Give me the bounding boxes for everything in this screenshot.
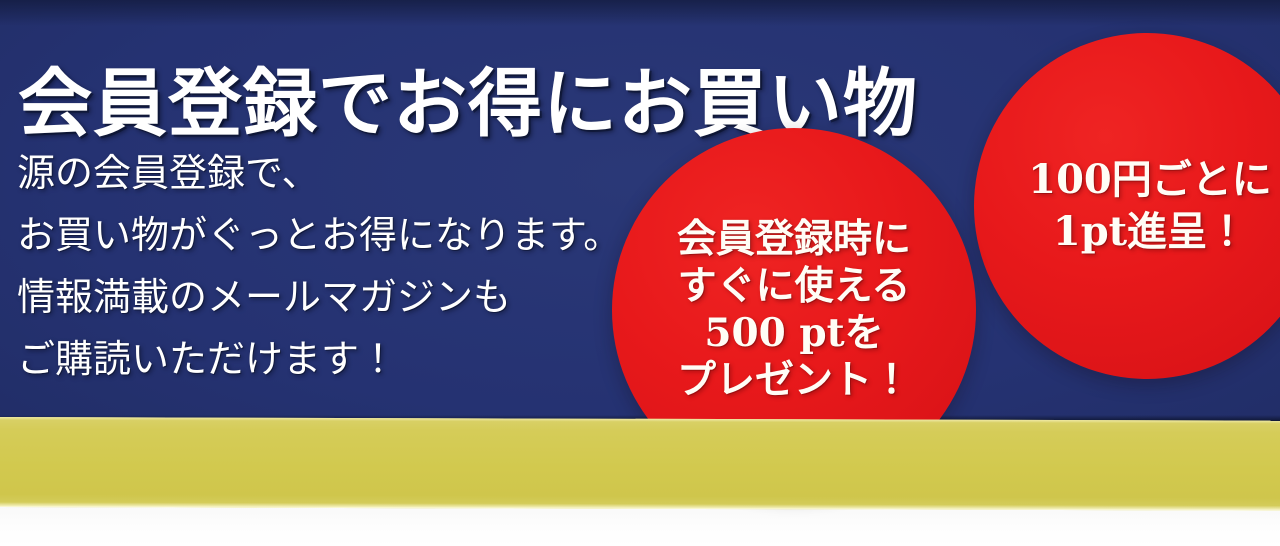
body-line-3: 情報満載のメールマガジンも bbox=[17, 266, 637, 328]
body-line-2: お買い物がぐっとお得になります。 bbox=[17, 204, 637, 266]
promo-left-line-1: 会員登録時に bbox=[677, 216, 911, 263]
body-line-4: ご購読いただけます！ bbox=[17, 328, 637, 390]
promo-left-line-4: プレゼント！ bbox=[677, 357, 911, 404]
body-line-1: 源の会員登録で、 bbox=[17, 142, 637, 204]
promo-left-line-3: 500 ptを bbox=[704, 310, 883, 357]
promo-right-line-2: 1pt進呈！ bbox=[1047, 206, 1247, 258]
banner-body-copy: 源の会員登録で、 お買い物がぐっとお得になります。 情報満載のメールマガジンも … bbox=[17, 142, 637, 390]
gold-ribbon-band bbox=[0, 417, 1280, 511]
promo-left-line-2: すぐに使える bbox=[678, 263, 911, 310]
promo-right-line-1: 100円ごとに bbox=[1022, 154, 1272, 206]
membership-promo-banner: 会員登録でお得にお買い物 源の会員登録で、 お買い物がぐっとお得になります。 情… bbox=[0, 0, 1280, 546]
